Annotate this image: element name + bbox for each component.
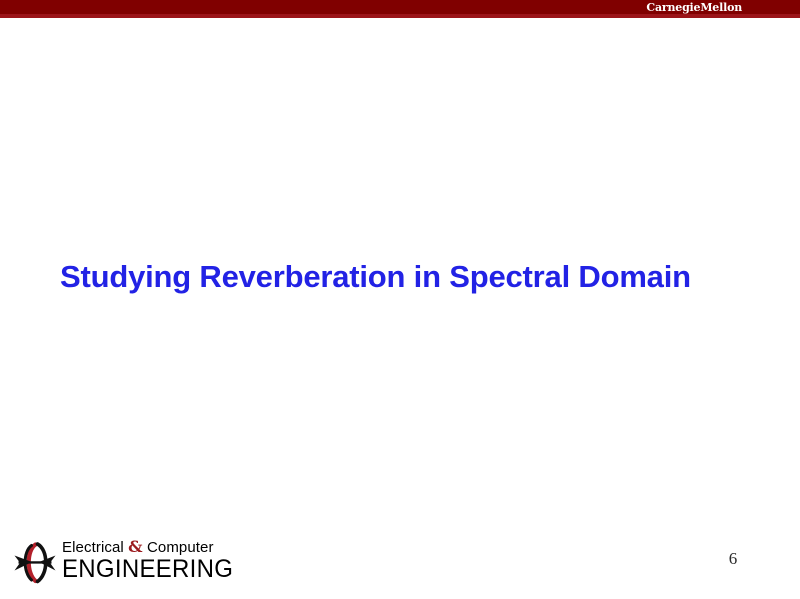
ece-logo-line-one: Electrical & Computer [62, 538, 222, 556]
ece-line1-prefix: Electrical [62, 539, 128, 556]
ece-logo-line-two: ENGINEERING [62, 556, 216, 582]
ampersand-glyph: & [128, 537, 143, 556]
ece-department-logo: Electrical & Computer ENGINEERING [12, 538, 222, 588]
header-band-accent-line [0, 14, 800, 18]
ece-globe-mark [12, 540, 58, 586]
carnegie-mellon-wordmark: CarnegieMellon [646, 1, 742, 14]
header-band: CarnegieMellon [0, 0, 800, 18]
slide-title: Studying Reverberation in Spectral Domai… [60, 258, 760, 296]
ece-line1-suffix: Computer [143, 539, 214, 556]
ece-wordmark: Electrical & Computer ENGINEERING [62, 538, 222, 582]
slide-canvas: CarnegieMellon Studying Reverberation in… [0, 0, 800, 599]
page-number: 6 [718, 549, 748, 569]
